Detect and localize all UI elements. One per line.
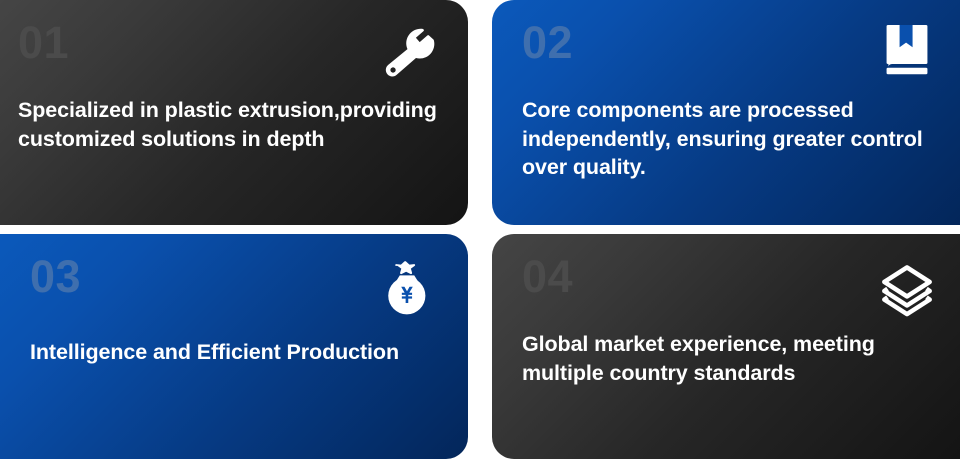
card-title: Specialized in plastic extrusion,providi… <box>18 96 444 153</box>
book-bookmark-icon <box>876 20 938 82</box>
card-content: 03 Intelligence and Efficient Production <box>0 234 468 459</box>
card-content: 02 Core components are processed indepen… <box>492 0 960 225</box>
card-number: 04 <box>522 254 573 299</box>
layers-stack-icon <box>876 260 938 322</box>
money-bag-yen-icon <box>376 258 438 320</box>
feature-card-grid: 01 Specialized in plastic extrusion,prov… <box>0 0 960 459</box>
card-number: 01 <box>18 20 69 65</box>
card-number: 02 <box>522 20 573 65</box>
card-title: Intelligence and Efficient Production <box>30 338 444 367</box>
card-title: Core components are processed independen… <box>522 96 946 182</box>
wrench-icon <box>378 24 440 86</box>
feature-card-01[interactable]: 01 Specialized in plastic extrusion,prov… <box>0 0 468 225</box>
feature-card-03[interactable]: 03 Intelligence and Efficient Production <box>0 234 468 459</box>
feature-card-02[interactable]: 02 Core components are processed indepen… <box>492 0 960 225</box>
feature-card-04[interactable]: 04 Global market experience, meeting mul… <box>492 234 960 459</box>
card-content: 01 Specialized in plastic extrusion,prov… <box>0 0 468 225</box>
card-content: 04 Global market experience, meeting mul… <box>492 234 960 459</box>
card-number: 03 <box>30 254 81 299</box>
card-title: Global market experience, meeting multip… <box>522 330 934 387</box>
